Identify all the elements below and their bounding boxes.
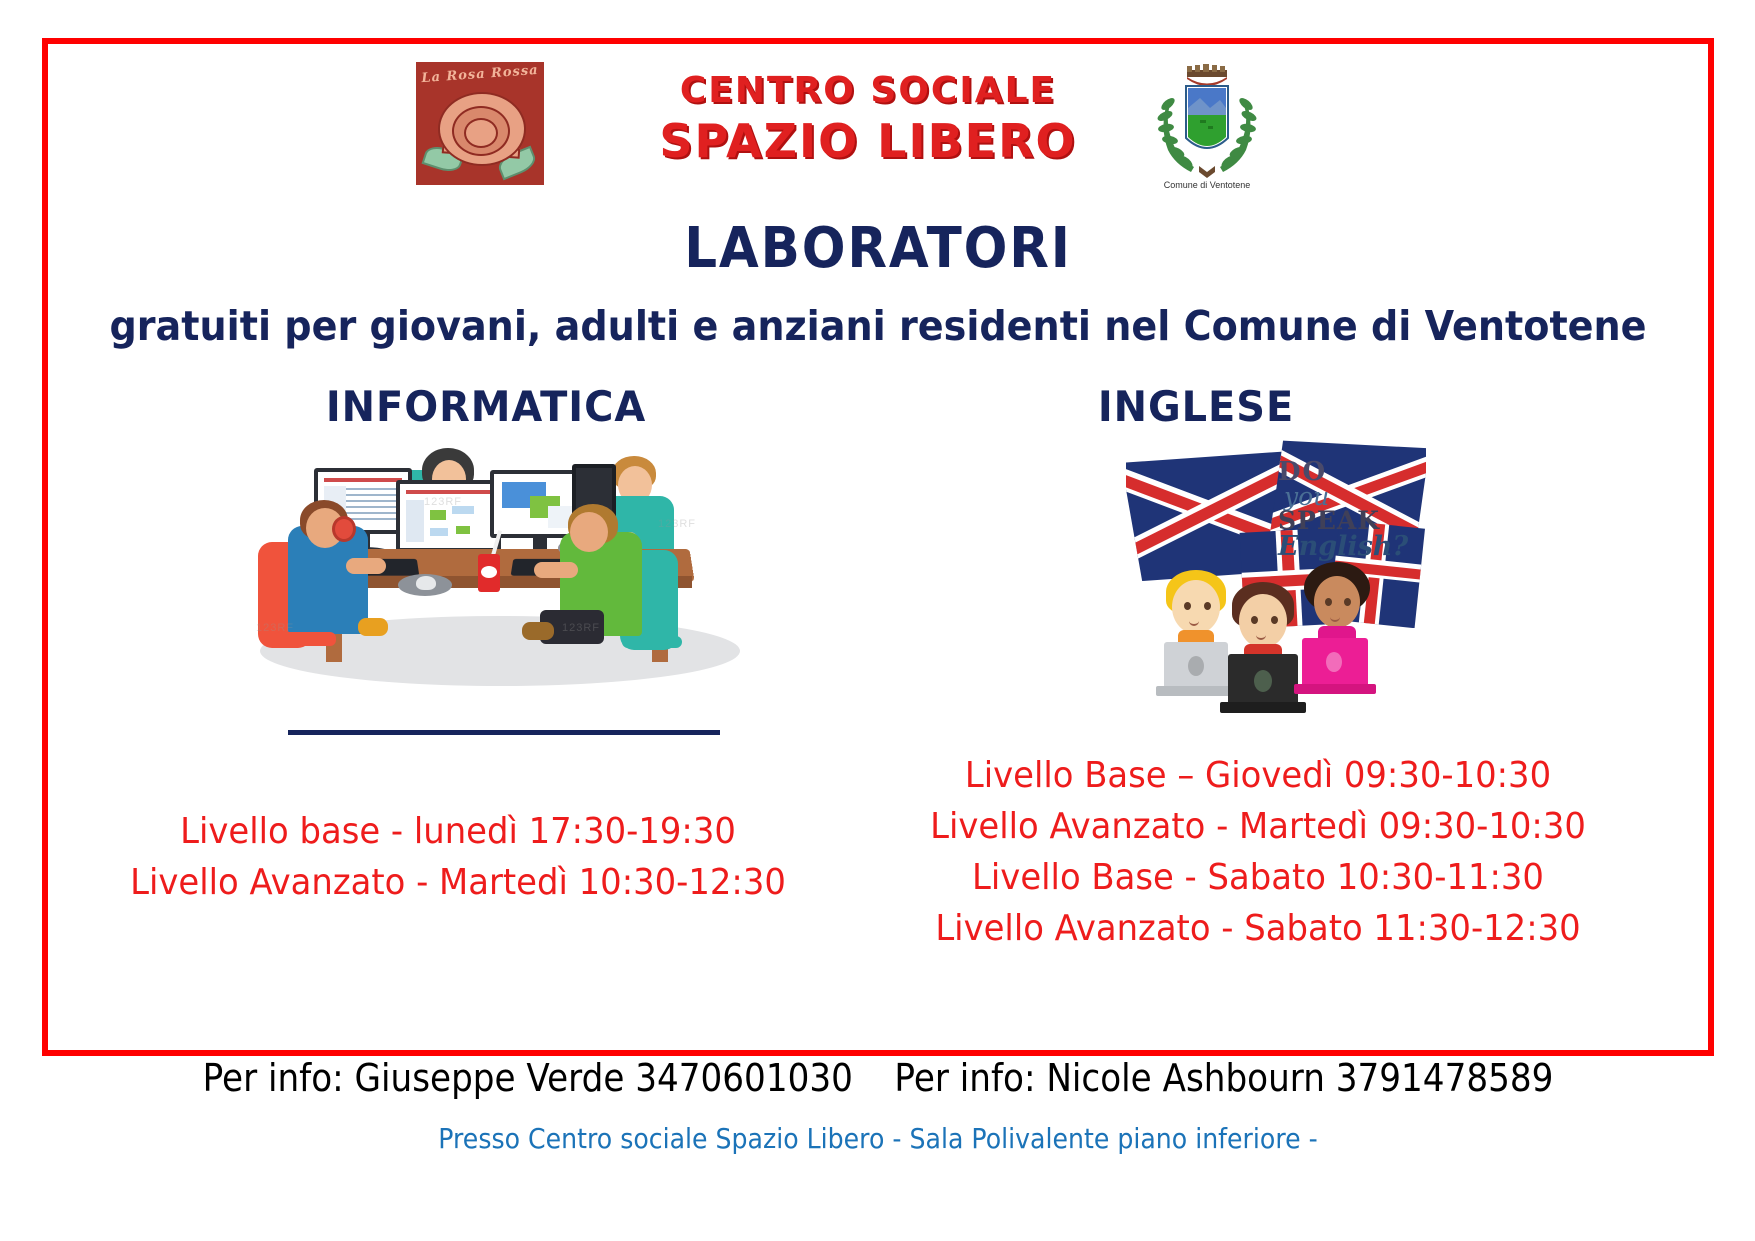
schedule-item: Livello Avanzato - Martedì 09:30-10:30 xyxy=(835,801,1681,852)
text-you: you xyxy=(1284,485,1418,509)
schedule-inglese: Livello Base – Giovedì 09:30-10:30 Livel… xyxy=(835,750,1681,954)
text-english: English? xyxy=(1278,533,1418,560)
laptop-pink-logo xyxy=(1326,652,1342,672)
eye-right xyxy=(1271,616,1278,624)
rosa-rossa-logo-label: La Rosa Rossa xyxy=(416,63,544,87)
monitor-center-screen xyxy=(400,484,497,548)
section-heading-informatica: INFORMATICA xyxy=(258,382,714,431)
wreath-tie-icon xyxy=(1199,166,1215,178)
page-title: LABORATORI xyxy=(114,216,1641,281)
laptop-black-base xyxy=(1220,702,1306,713)
poster-root: La Rosa Rossa CENTRO SOCIALE SPAZIO LIBE… xyxy=(0,0,1755,1241)
organization-title-line2: SPAZIO LIBERO xyxy=(608,113,1128,171)
screen-toolbar xyxy=(406,490,491,494)
schedule-item: Livello Base - Sabato 10:30-11:30 xyxy=(835,852,1681,903)
poster-frame: La Rosa Rossa CENTRO SOCIALE SPAZIO LIBE… xyxy=(42,38,1714,1056)
soda-cup-label xyxy=(481,566,497,578)
contact-row: Per info: Giuseppe Verde 3470601030 Per … xyxy=(131,1056,1625,1100)
contact-inglese: Per info: Nicole Ashbourn 3791478589 xyxy=(894,1056,1553,1100)
shoe-brown xyxy=(522,622,554,640)
eye-right xyxy=(1204,602,1211,610)
chair-base-teal xyxy=(622,636,682,648)
venue-note: Presso Centro sociale Spazio Libero - Sa… xyxy=(131,1122,1625,1155)
eye-left xyxy=(1251,616,1258,624)
organization-title-line1: CENTRO SOCIALE xyxy=(608,68,1128,113)
mouse-left xyxy=(416,576,436,590)
comune-caption: Comune di Ventotene xyxy=(1142,180,1272,190)
text-speak: SPEAK xyxy=(1278,508,1418,533)
headphone-ear-icon xyxy=(332,516,356,542)
comune-ventotene-crest: Comune di Ventotene xyxy=(1142,60,1272,190)
organization-title: CENTRO SOCIALE SPAZIO LIBERO xyxy=(608,68,1128,171)
laptop-grey-logo xyxy=(1188,656,1204,676)
head-skin xyxy=(1239,594,1287,648)
screen-toolbar xyxy=(324,478,402,482)
monitor-center xyxy=(396,480,501,552)
schedule-item: Livello base - lunedì 17:30-19:30 xyxy=(110,806,806,857)
soda-cup-icon xyxy=(478,554,500,592)
schedule-item: Livello Avanzato - Sabato 11:30-12:30 xyxy=(835,903,1681,954)
contact-informatica: Per info: Giuseppe Verde 3470601030 xyxy=(203,1056,853,1100)
head-skin xyxy=(1172,580,1220,634)
english-illustration: DO you SPEAK English? xyxy=(1126,434,1426,716)
arm-skin xyxy=(346,558,386,574)
laptop-grey-base xyxy=(1156,686,1236,696)
computer-lab-illustration: 123RF 123RF 123RF 123RF xyxy=(240,426,770,701)
crown-icon xyxy=(1187,64,1227,86)
laptop-pink-base xyxy=(1294,684,1376,694)
chair-base-red xyxy=(274,632,336,646)
crest-svg xyxy=(1142,60,1272,190)
arm-skin xyxy=(534,562,578,578)
schedule-informatica: Livello base - lunedì 17:30-19:30 Livell… xyxy=(110,806,806,908)
eye-right xyxy=(1344,598,1351,606)
shoe-yellow xyxy=(358,618,388,636)
schedule-item: Livello Base – Giovedì 09:30-10:30 xyxy=(835,750,1681,801)
section-heading-inglese: INGLESE xyxy=(968,382,1424,431)
eye-left xyxy=(1184,602,1191,610)
section-divider xyxy=(288,730,720,735)
laptop-black-logo xyxy=(1254,670,1272,692)
rosa-rossa-logo: La Rosa Rossa xyxy=(416,62,544,185)
schedule-item: Livello Avanzato - Martedì 10:30-12:30 xyxy=(110,857,806,908)
poster-header: La Rosa Rossa CENTRO SOCIALE SPAZIO LIBE… xyxy=(48,54,1708,194)
eye-left xyxy=(1325,598,1332,606)
head-skin xyxy=(570,512,608,552)
rose-petal-inner-icon xyxy=(464,118,498,148)
page-subtitle: gratuiti per giovani, adulti e anziani r… xyxy=(106,302,1650,350)
text-do: DO xyxy=(1278,460,1418,485)
do-you-speak-english-text: DO you SPEAK English? xyxy=(1278,460,1418,560)
shield-icon xyxy=(1186,86,1228,148)
